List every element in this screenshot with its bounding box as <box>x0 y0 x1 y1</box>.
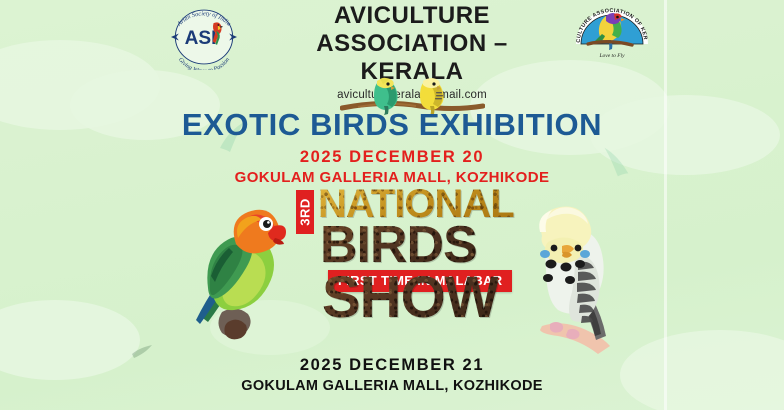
exhibition-date: 2025 DECEMBER 20 <box>0 148 784 167</box>
show-headline-block: 3RD NATIONAL BIRDS FIRST TIME IN MALABAR… <box>296 190 536 345</box>
svg-text:ASI: ASI <box>185 28 217 49</box>
poster-header: Avian Society of India Giving Wings to P… <box>0 0 784 78</box>
fischers-lovebird-photo <box>178 196 288 354</box>
exhibition-block: EXOTIC BIRDS EXHIBITION 2025 DECEMBER 20… <box>0 108 784 186</box>
crested-budgerigar-photo <box>524 202 629 357</box>
aak-logo: AVICULTURE ASSOCIATION OF KERALA Love to… <box>562 0 662 68</box>
headline-word-birds: BIRDS <box>320 224 477 268</box>
show-venue: GOKULAM GALLERIA MALL, KOZHIKODE <box>0 378 784 394</box>
bottom-info-block: 2025 DECEMBER 21 GOKULAM GALLERIA MALL, … <box>0 356 784 394</box>
edition-badge: 3RD <box>296 190 314 234</box>
asi-logo: Avian Society of India Giving Wings to P… <box>160 4 248 70</box>
edition-badge-label: 3RD <box>298 198 313 226</box>
exhibition-title: EXOTIC BIRDS EXHIBITION <box>0 108 784 142</box>
org-name-line1: AVICULTURE <box>262 2 562 30</box>
headline-word-show: SHOW <box>322 274 498 323</box>
show-date: 2025 DECEMBER 21 <box>0 356 784 375</box>
svg-text:Love to Fly: Love to Fly <box>598 53 625 59</box>
poster-canvas: Avian Society of India Giving Wings to P… <box>0 0 784 410</box>
